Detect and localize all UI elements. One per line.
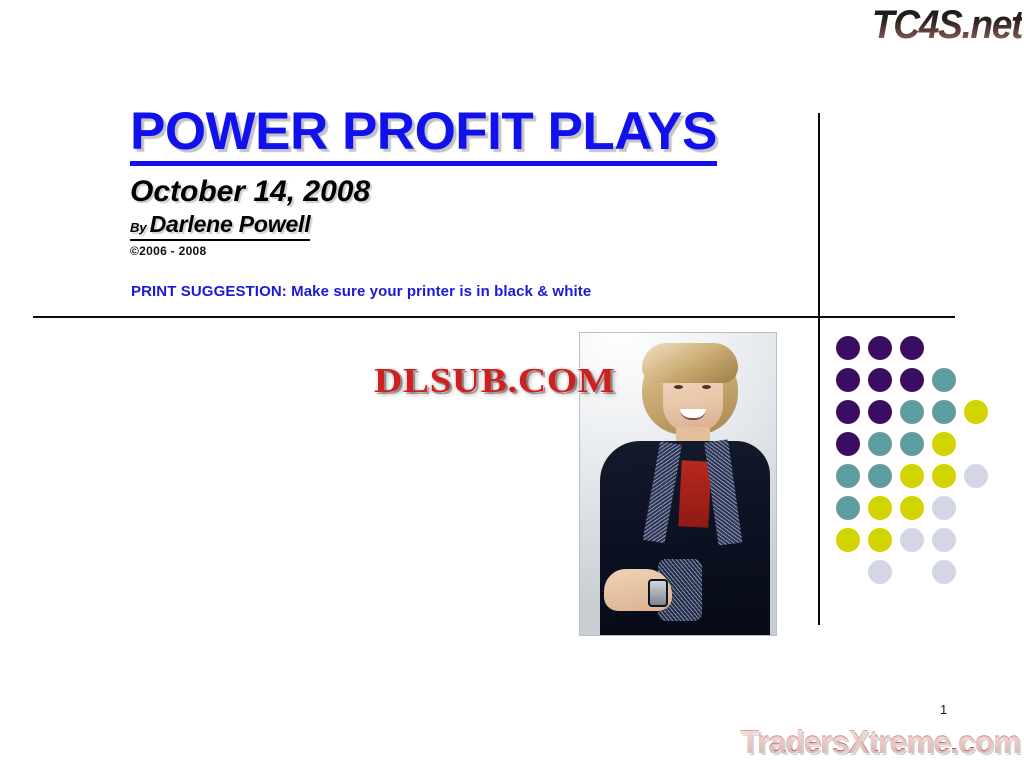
- dot-grid-dot: [900, 528, 924, 552]
- dot-grid-dot: [836, 368, 860, 392]
- dlsub-watermark: DLSUB.COM: [374, 361, 615, 401]
- dot-grid-dot: [932, 560, 956, 584]
- photo-hair-front: [642, 343, 738, 383]
- dot-grid-dot: [932, 368, 956, 392]
- dot-grid-dot: [868, 528, 892, 552]
- tc4s-brand-logo: TC4S.net: [840, 2, 1022, 50]
- horizontal-divider: [33, 316, 955, 318]
- decorative-dot-grid: [836, 336, 1006, 586]
- dot-grid-dot: [836, 400, 860, 424]
- byline-prefix: By: [130, 220, 147, 235]
- dot-grid-dot: [932, 432, 956, 456]
- slide-canvas: TC4S.net POWER PROFIT PLAYS October 14, …: [0, 0, 1024, 768]
- photo-red-top: [678, 460, 711, 527]
- dot-grid-dot: [836, 432, 860, 456]
- photo-eye-right: [702, 385, 711, 389]
- photo-eye-left: [674, 385, 683, 389]
- dlsub-watermark-text: DLSUB.COM: [374, 361, 615, 400]
- page-title: POWER PROFIT PLAYS: [130, 103, 717, 166]
- photo-wristwatch: [648, 579, 668, 607]
- dot-grid-dot: [900, 336, 924, 360]
- dot-grid-dot: [900, 432, 924, 456]
- dot-grid-dot: [836, 464, 860, 488]
- dot-grid-dot: [868, 336, 892, 360]
- dot-grid-dot: [836, 336, 860, 360]
- copyright-notice: ©2006 - 2008: [130, 244, 790, 258]
- byline-author-name: Darlene Powell: [150, 211, 311, 237]
- tradersxtreme-brand-logo: TradersXtreme.com: [693, 722, 1020, 764]
- dot-grid-dot: [932, 464, 956, 488]
- vertical-divider: [818, 113, 820, 625]
- dot-grid-dot: [964, 400, 988, 424]
- print-suggestion-note: PRINT SUGGESTION: Make sure your printer…: [131, 283, 591, 300]
- dot-grid-dot: [868, 496, 892, 520]
- dot-grid-dot: [868, 464, 892, 488]
- presentation-date: October 14, 2008: [130, 175, 790, 209]
- dot-grid-dot: [964, 464, 988, 488]
- dot-grid-dot: [900, 464, 924, 488]
- dot-grid-dot: [932, 528, 956, 552]
- dot-grid-dot: [900, 496, 924, 520]
- dot-grid-dot: [932, 400, 956, 424]
- page-number: 1: [940, 702, 947, 717]
- dot-grid-dot: [868, 400, 892, 424]
- byline: ByDarlene Powell: [130, 211, 310, 241]
- dot-grid-dot: [900, 400, 924, 424]
- dot-grid-dot: [932, 496, 956, 520]
- dot-grid-dot: [900, 368, 924, 392]
- dot-grid-dot: [836, 528, 860, 552]
- dot-grid-dot: [836, 496, 860, 520]
- dot-grid-dot: [868, 560, 892, 584]
- dot-grid-dot: [868, 368, 892, 392]
- title-block: POWER PROFIT PLAYS October 14, 2008 ByDa…: [130, 103, 790, 258]
- dot-grid-dot: [868, 432, 892, 456]
